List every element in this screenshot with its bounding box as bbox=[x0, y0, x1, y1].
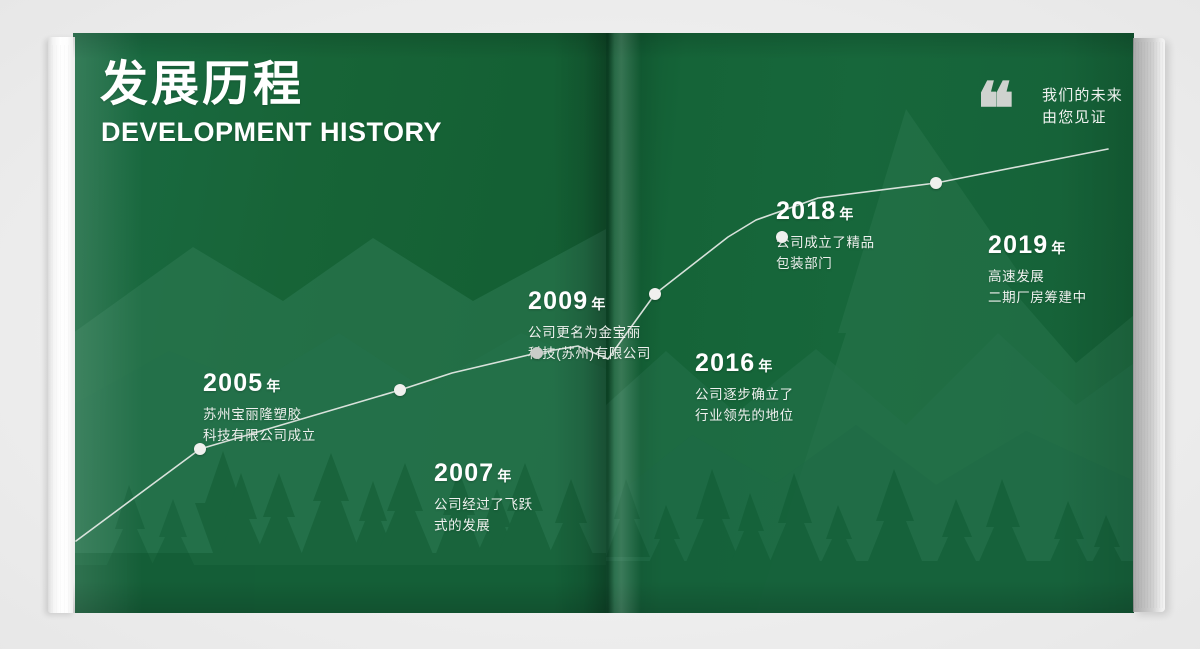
quotation-mark-icon: ❝ bbox=[976, 83, 1011, 135]
timeline-dot-2009[interactable] bbox=[531, 347, 543, 359]
milestone-2009-year-suffix: 年 bbox=[591, 296, 605, 312]
milestone-2018[interactable]: 2018年 公司成立了精品 包装部门 bbox=[776, 199, 875, 274]
milestone-2016[interactable]: 2016年 公司逐步确立了 行业领先的地位 bbox=[695, 351, 794, 426]
milestone-2019-year-number: 2019 bbox=[988, 231, 1048, 259]
milestone-2019-year: 2019年 bbox=[988, 233, 1087, 258]
milestone-2005-desc: 苏州宝丽隆塑胶 科技有限公司成立 bbox=[203, 405, 316, 446]
quote-block: ❝ 我们的未来 由您见证 bbox=[976, 83, 1151, 143]
left-page-stack-edge bbox=[48, 37, 75, 613]
milestone-2019[interactable]: 2019年 高速发展 二期厂房筹建中 bbox=[988, 233, 1087, 308]
timeline-dot-2007[interactable] bbox=[394, 384, 406, 396]
milestone-2018-year-number: 2018 bbox=[776, 197, 836, 225]
milestone-2018-year: 2018年 bbox=[776, 199, 875, 224]
milestone-2007-year: 2007年 bbox=[434, 461, 533, 486]
quote-text: 我们的未来 由您见证 bbox=[1042, 85, 1123, 129]
open-book-spread: 发展历程 DEVELOPMENT HISTORY ❝ 我们的未来 由您见证 20… bbox=[48, 33, 1168, 616]
milestone-2005-year-suffix: 年 bbox=[266, 378, 280, 394]
milestone-2007-year-suffix: 年 bbox=[497, 468, 511, 484]
milestone-2009[interactable]: 2009年 公司更名为金宝丽 科技(苏州)有限公司 bbox=[528, 289, 651, 364]
milestone-2005-year-number: 2005 bbox=[203, 369, 263, 397]
milestone-2018-year-suffix: 年 bbox=[839, 206, 853, 222]
milestone-2005[interactable]: 2005年 苏州宝丽隆塑胶 科技有限公司成立 bbox=[203, 371, 316, 446]
milestone-2016-year: 2016年 bbox=[695, 351, 794, 376]
milestone-2016-year-suffix: 年 bbox=[758, 358, 772, 374]
milestone-2016-desc: 公司逐步确立了 行业领先的地位 bbox=[695, 385, 794, 426]
page-title-en: DEVELOPMENT HISTORY bbox=[101, 119, 442, 146]
screenshot-canvas: 发展历程 DEVELOPMENT HISTORY ❝ 我们的未来 由您见证 20… bbox=[0, 0, 1200, 649]
milestone-2005-year: 2005年 bbox=[203, 371, 316, 396]
timeline-dot-2019[interactable] bbox=[930, 177, 942, 189]
timeline-dot-2018[interactable] bbox=[776, 231, 788, 243]
milestone-2007-year-number: 2007 bbox=[434, 459, 494, 487]
milestone-2019-year-suffix: 年 bbox=[1051, 240, 1065, 256]
left-page-stack-lines bbox=[52, 45, 72, 613]
timeline-dot-2016[interactable] bbox=[649, 288, 661, 300]
milestone-2018-desc: 公司成立了精品 包装部门 bbox=[776, 233, 875, 274]
milestone-2019-desc: 高速发展 二期厂房筹建中 bbox=[988, 267, 1087, 308]
milestone-2007-desc: 公司经过了飞跃 式的发展 bbox=[434, 495, 533, 536]
milestone-2016-year-number: 2016 bbox=[695, 349, 755, 377]
timeline-dot-2005[interactable] bbox=[194, 443, 206, 455]
milestone-2009-year: 2009年 bbox=[528, 289, 651, 314]
page-title-cn: 发展历程 bbox=[100, 61, 304, 109]
milestone-2007[interactable]: 2007年 公司经过了飞跃 式的发展 bbox=[434, 461, 533, 536]
milestone-2009-desc: 公司更名为金宝丽 科技(苏州)有限公司 bbox=[528, 323, 651, 364]
milestone-2009-year-number: 2009 bbox=[528, 287, 588, 315]
